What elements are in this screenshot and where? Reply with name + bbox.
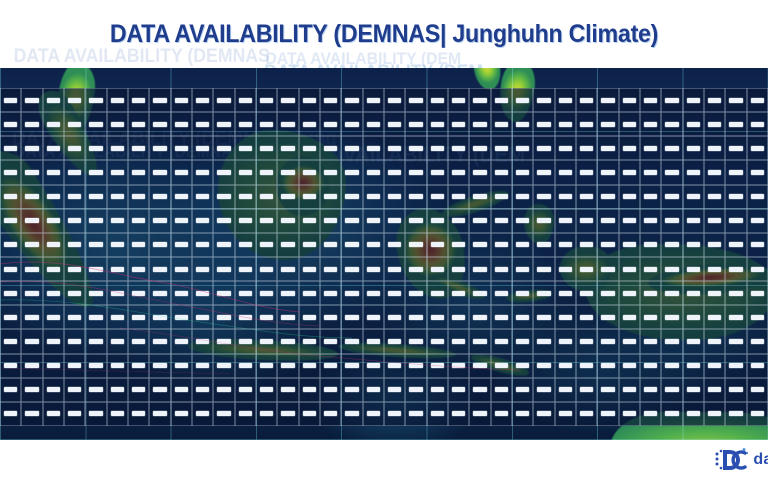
grid-cell[interactable] [0,136,21,160]
grid-cell[interactable] [21,305,42,329]
grid-cell[interactable] [363,112,384,136]
grid-cell[interactable] [491,257,512,281]
grid-cell[interactable] [107,305,128,329]
grid-cell[interactable] [576,378,597,402]
grid-cell[interactable] [256,329,277,353]
grid-cell[interactable] [427,354,448,378]
grid-cell[interactable] [469,378,490,402]
grid-cell[interactable] [149,281,170,305]
grid-cell[interactable] [448,112,469,136]
grid-cell[interactable] [64,257,85,281]
grid-cell[interactable] [320,329,341,353]
grid-cell[interactable] [128,378,149,402]
grid-cell[interactable] [21,402,42,426]
grid-cell[interactable] [704,88,725,112]
grid-cell[interactable] [405,160,426,184]
grid-cell[interactable] [619,112,640,136]
grid-cell[interactable] [512,112,533,136]
grid-cell[interactable] [427,136,448,160]
grid-cell[interactable] [213,136,234,160]
grid-cell[interactable] [149,257,170,281]
grid-cell[interactable] [512,88,533,112]
grid-cell[interactable] [277,281,298,305]
grid-cell[interactable] [85,209,106,233]
grid-cell[interactable] [491,329,512,353]
grid-cell[interactable] [619,281,640,305]
grid-cell[interactable] [491,160,512,184]
grid-cell[interactable] [192,209,213,233]
grid-cell[interactable] [491,281,512,305]
grid-cell[interactable] [235,378,256,402]
grid-cell[interactable] [85,112,106,136]
grid-cell[interactable] [277,378,298,402]
grid-cell[interactable] [43,209,64,233]
grid-cell[interactable] [512,233,533,257]
grid-cell[interactable] [213,233,234,257]
grid-cell[interactable] [277,112,298,136]
grid-cell[interactable] [0,354,21,378]
grid-cell[interactable] [640,185,661,209]
grid-cell[interactable] [320,257,341,281]
grid-cell[interactable] [469,112,490,136]
grid-cell[interactable] [277,354,298,378]
grid-cell[interactable] [576,281,597,305]
grid-cell[interactable] [0,329,21,353]
grid-cell[interactable] [555,233,576,257]
grid-cell[interactable] [405,305,426,329]
grid-cell[interactable] [533,281,554,305]
grid-cell[interactable] [384,402,405,426]
grid-cell[interactable] [661,160,682,184]
grid-cell[interactable] [341,112,362,136]
grid-cell[interactable] [320,185,341,209]
grid-cell[interactable] [512,160,533,184]
grid-cell[interactable] [448,402,469,426]
grid-cell[interactable] [683,88,704,112]
grid-cell[interactable] [683,233,704,257]
grid-cell[interactable] [427,160,448,184]
grid-cell[interactable] [0,185,21,209]
grid-cell[interactable] [704,112,725,136]
grid-cell[interactable] [747,88,768,112]
grid-cell[interactable] [704,354,725,378]
grid-cell[interactable] [448,233,469,257]
grid-cell[interactable] [299,354,320,378]
grid-cell[interactable] [277,402,298,426]
grid-cell[interactable] [128,112,149,136]
grid-cell[interactable] [128,257,149,281]
grid-cell[interactable] [427,402,448,426]
grid-cell[interactable] [299,305,320,329]
grid-cell[interactable] [405,136,426,160]
grid-cell[interactable] [704,378,725,402]
grid-cell[interactable] [64,209,85,233]
grid-cell[interactable] [128,233,149,257]
grid-cell[interactable] [619,378,640,402]
grid-cell[interactable] [725,378,746,402]
grid-cell[interactable] [256,209,277,233]
grid-cell[interactable] [747,257,768,281]
grid-cell[interactable] [277,209,298,233]
grid-cell[interactable] [704,305,725,329]
grid-cell[interactable] [277,329,298,353]
grid-cell[interactable] [0,88,21,112]
grid-cell[interactable] [469,281,490,305]
grid-cell[interactable] [85,329,106,353]
grid-cell[interactable] [512,402,533,426]
grid-cell[interactable] [725,257,746,281]
grid-cell[interactable] [128,305,149,329]
grid-cell[interactable] [619,160,640,184]
grid-cell[interactable] [171,402,192,426]
grid-cell[interactable] [107,233,128,257]
grid-cell[interactable] [491,185,512,209]
grid-cell[interactable] [299,378,320,402]
grid-cell[interactable] [576,209,597,233]
grid-cell[interactable] [64,329,85,353]
grid-cell[interactable] [683,112,704,136]
grid-cell[interactable] [192,281,213,305]
grid-cell[interactable] [171,281,192,305]
grid-cell[interactable] [341,209,362,233]
grid-cell[interactable] [555,136,576,160]
grid-cell[interactable] [533,378,554,402]
grid-cell[interactable] [725,112,746,136]
grid-cell[interactable] [619,209,640,233]
grid-cell[interactable] [21,281,42,305]
grid-cell[interactable] [149,233,170,257]
grid-cell[interactable] [235,354,256,378]
grid-cell[interactable] [341,257,362,281]
grid-cell[interactable] [533,305,554,329]
grid-cell[interactable] [512,354,533,378]
grid-cell[interactable] [491,88,512,112]
grid-cell[interactable] [661,233,682,257]
grid-cell[interactable] [597,136,618,160]
grid-cell[interactable] [85,281,106,305]
grid-cell[interactable] [43,305,64,329]
grid-cell[interactable] [192,160,213,184]
grid-cell[interactable] [384,281,405,305]
grid-cell[interactable] [171,233,192,257]
grid-cell[interactable] [64,136,85,160]
grid-cell[interactable] [171,329,192,353]
grid-cell[interactable] [171,257,192,281]
grid-cell[interactable] [21,257,42,281]
grid-cell[interactable] [85,185,106,209]
grid-cell[interactable] [299,209,320,233]
grid-cell[interactable] [491,305,512,329]
grid-cell[interactable] [320,378,341,402]
grid-cell[interactable] [427,185,448,209]
grid-cell[interactable] [597,378,618,402]
grid-cell[interactable] [725,354,746,378]
grid-cell[interactable] [491,112,512,136]
grid-cell[interactable] [0,257,21,281]
grid-cell[interactable] [320,305,341,329]
grid-cell[interactable] [576,185,597,209]
grid-cell[interactable] [256,185,277,209]
grid-cell[interactable] [640,160,661,184]
grid-cell[interactable] [427,233,448,257]
grid-cell[interactable] [704,136,725,160]
grid-cell[interactable] [235,88,256,112]
grid-cell[interactable] [405,88,426,112]
grid-cell[interactable] [427,329,448,353]
grid-cell[interactable] [619,233,640,257]
grid-cell[interactable] [277,160,298,184]
grid-cell[interactable] [149,305,170,329]
grid-cell[interactable] [277,257,298,281]
grid-cell[interactable] [21,136,42,160]
grid-cell[interactable] [21,354,42,378]
grid-cell[interactable] [597,209,618,233]
grid-cell[interactable] [85,88,106,112]
grid-cell[interactable] [469,185,490,209]
grid-cell[interactable] [43,233,64,257]
grid-cell[interactable] [747,209,768,233]
grid-cell[interactable] [640,209,661,233]
grid-cell[interactable] [683,257,704,281]
grid-cell[interactable] [213,209,234,233]
grid-cell[interactable] [533,88,554,112]
grid-cell[interactable] [299,136,320,160]
grid-cell[interactable] [235,112,256,136]
grid-cell[interactable] [491,136,512,160]
grid-cell[interactable] [128,209,149,233]
grid-cell[interactable] [661,185,682,209]
grid-cell[interactable] [21,233,42,257]
grid-cell[interactable] [0,209,21,233]
grid-cell[interactable] [576,354,597,378]
grid-cell[interactable] [597,160,618,184]
grid-cell[interactable] [640,112,661,136]
grid-cell[interactable] [299,329,320,353]
grid-cell[interactable] [597,329,618,353]
grid-cell[interactable] [448,209,469,233]
grid-cell[interactable] [469,305,490,329]
grid-cell[interactable] [533,233,554,257]
grid-cell[interactable] [747,185,768,209]
grid-cell[interactable] [469,329,490,353]
grid-cell[interactable] [704,257,725,281]
grid-cell[interactable] [469,233,490,257]
grid-cell[interactable] [640,136,661,160]
grid-cell[interactable] [21,378,42,402]
grid-cell[interactable] [192,136,213,160]
grid-cell[interactable] [213,305,234,329]
grid-cell[interactable] [597,402,618,426]
grid-cell[interactable] [555,209,576,233]
grid-cell[interactable] [320,354,341,378]
grid-cell[interactable] [21,329,42,353]
grid-cell[interactable] [683,136,704,160]
grid-cell[interactable] [725,305,746,329]
grid-cell[interactable] [661,305,682,329]
grid-cell[interactable] [64,378,85,402]
grid-cell[interactable] [597,257,618,281]
grid-cell[interactable] [171,160,192,184]
grid-cell[interactable] [683,354,704,378]
grid-cell[interactable] [43,112,64,136]
grid-cell[interactable] [107,329,128,353]
grid-cell[interactable] [320,160,341,184]
grid-cell[interactable] [491,209,512,233]
grid-cell[interactable] [512,136,533,160]
grid-cell[interactable] [192,112,213,136]
grid-cell[interactable] [747,354,768,378]
grid-cell[interactable] [85,378,106,402]
grid-cell[interactable] [427,209,448,233]
grid-cell[interactable] [363,329,384,353]
grid-cell[interactable] [107,136,128,160]
grid-cell[interactable] [43,329,64,353]
grid-cell[interactable] [277,305,298,329]
grid-cell[interactable] [0,402,21,426]
grid-cell[interactable] [256,281,277,305]
grid-cell[interactable] [448,354,469,378]
grid-cell[interactable] [640,233,661,257]
grid-cell[interactable] [64,112,85,136]
grid-cell[interactable] [448,305,469,329]
grid-cell[interactable] [725,160,746,184]
grid-cell[interactable] [427,257,448,281]
grid-cell[interactable] [576,112,597,136]
grid-cell[interactable] [533,354,554,378]
grid-cell[interactable] [448,257,469,281]
grid-cell[interactable] [43,88,64,112]
grid-cell[interactable] [107,257,128,281]
grid-cell[interactable] [576,402,597,426]
grid-cell[interactable] [64,402,85,426]
grid-cell[interactable] [107,88,128,112]
grid-cell[interactable] [85,233,106,257]
grid-cell[interactable] [512,257,533,281]
grid-cell[interactable] [363,305,384,329]
grid-cell[interactable] [384,305,405,329]
grid-cell[interactable] [235,329,256,353]
grid-cell[interactable] [555,257,576,281]
grid-cell[interactable] [597,305,618,329]
grid-cell[interactable] [149,402,170,426]
grid-cell[interactable] [107,402,128,426]
grid-cell[interactable] [256,136,277,160]
grid-cell[interactable] [363,185,384,209]
grid-cell[interactable] [427,88,448,112]
grid-cell[interactable] [384,209,405,233]
grid-cell[interactable] [725,281,746,305]
grid-cell[interactable] [576,257,597,281]
grid-cell[interactable] [320,112,341,136]
grid-cell[interactable] [0,233,21,257]
grid-cell[interactable] [235,209,256,233]
grid-cell[interactable] [576,305,597,329]
grid-cell[interactable] [704,402,725,426]
grid-cell[interactable] [576,329,597,353]
grid-cell[interactable] [171,354,192,378]
grid-cell[interactable] [384,257,405,281]
grid-cell[interactable] [491,378,512,402]
grid-cell[interactable] [363,233,384,257]
grid-cell[interactable] [363,136,384,160]
grid-cell[interactable] [725,88,746,112]
grid-cell[interactable] [235,281,256,305]
grid-cell[interactable] [405,112,426,136]
grid-cell[interactable] [640,402,661,426]
grid-cell[interactable] [341,185,362,209]
grid-cell[interactable] [597,112,618,136]
grid-cell[interactable] [448,185,469,209]
grid-cell[interactable] [384,233,405,257]
grid-cell[interactable] [384,88,405,112]
grid-cell[interactable] [491,233,512,257]
grid-cell[interactable] [427,281,448,305]
grid-cell[interactable] [235,257,256,281]
grid-cell[interactable] [491,354,512,378]
grid-cell[interactable] [683,185,704,209]
grid-cell[interactable] [320,136,341,160]
grid-cell[interactable] [597,233,618,257]
grid-cell[interactable] [661,329,682,353]
grid-cell[interactable] [640,88,661,112]
grid-cell[interactable] [683,378,704,402]
grid-cell[interactable] [43,160,64,184]
grid-cell[interactable] [640,257,661,281]
grid-cell[interactable] [512,185,533,209]
grid-cell[interactable] [299,112,320,136]
grid-cell[interactable] [320,281,341,305]
grid-cell[interactable] [43,185,64,209]
grid-cell[interactable] [405,281,426,305]
grid-cell[interactable] [533,329,554,353]
grid-cell[interactable] [469,354,490,378]
grid-cell[interactable] [555,88,576,112]
grid-cell[interactable] [235,233,256,257]
grid-cell[interactable] [448,160,469,184]
grid-cell[interactable] [192,305,213,329]
grid-cell[interactable] [277,136,298,160]
grid-cell[interactable] [747,160,768,184]
grid-cell[interactable] [192,378,213,402]
grid-cell[interactable] [256,378,277,402]
grid-cell[interactable] [171,305,192,329]
grid-cell[interactable] [469,136,490,160]
grid-cell[interactable] [747,329,768,353]
grid-cell[interactable] [704,329,725,353]
grid-cell[interactable] [533,136,554,160]
grid-cell[interactable] [256,257,277,281]
grid-cell[interactable] [213,378,234,402]
grid-cell[interactable] [256,88,277,112]
grid-cell[interactable] [747,233,768,257]
grid-cell[interactable] [555,160,576,184]
grid-cell[interactable] [683,160,704,184]
grid-cell[interactable] [576,160,597,184]
grid-cell[interactable] [405,354,426,378]
grid-cell[interactable] [640,378,661,402]
grid-cell[interactable] [43,257,64,281]
grid-cell[interactable] [341,305,362,329]
grid-cell[interactable] [405,209,426,233]
grid-cell[interactable] [0,281,21,305]
grid-cell[interactable] [171,136,192,160]
grid-cell[interactable] [661,378,682,402]
grid-cell[interactable] [725,402,746,426]
grid-cell[interactable] [235,185,256,209]
grid-cell[interactable] [469,160,490,184]
grid-cell[interactable] [43,281,64,305]
grid-cell[interactable] [256,233,277,257]
